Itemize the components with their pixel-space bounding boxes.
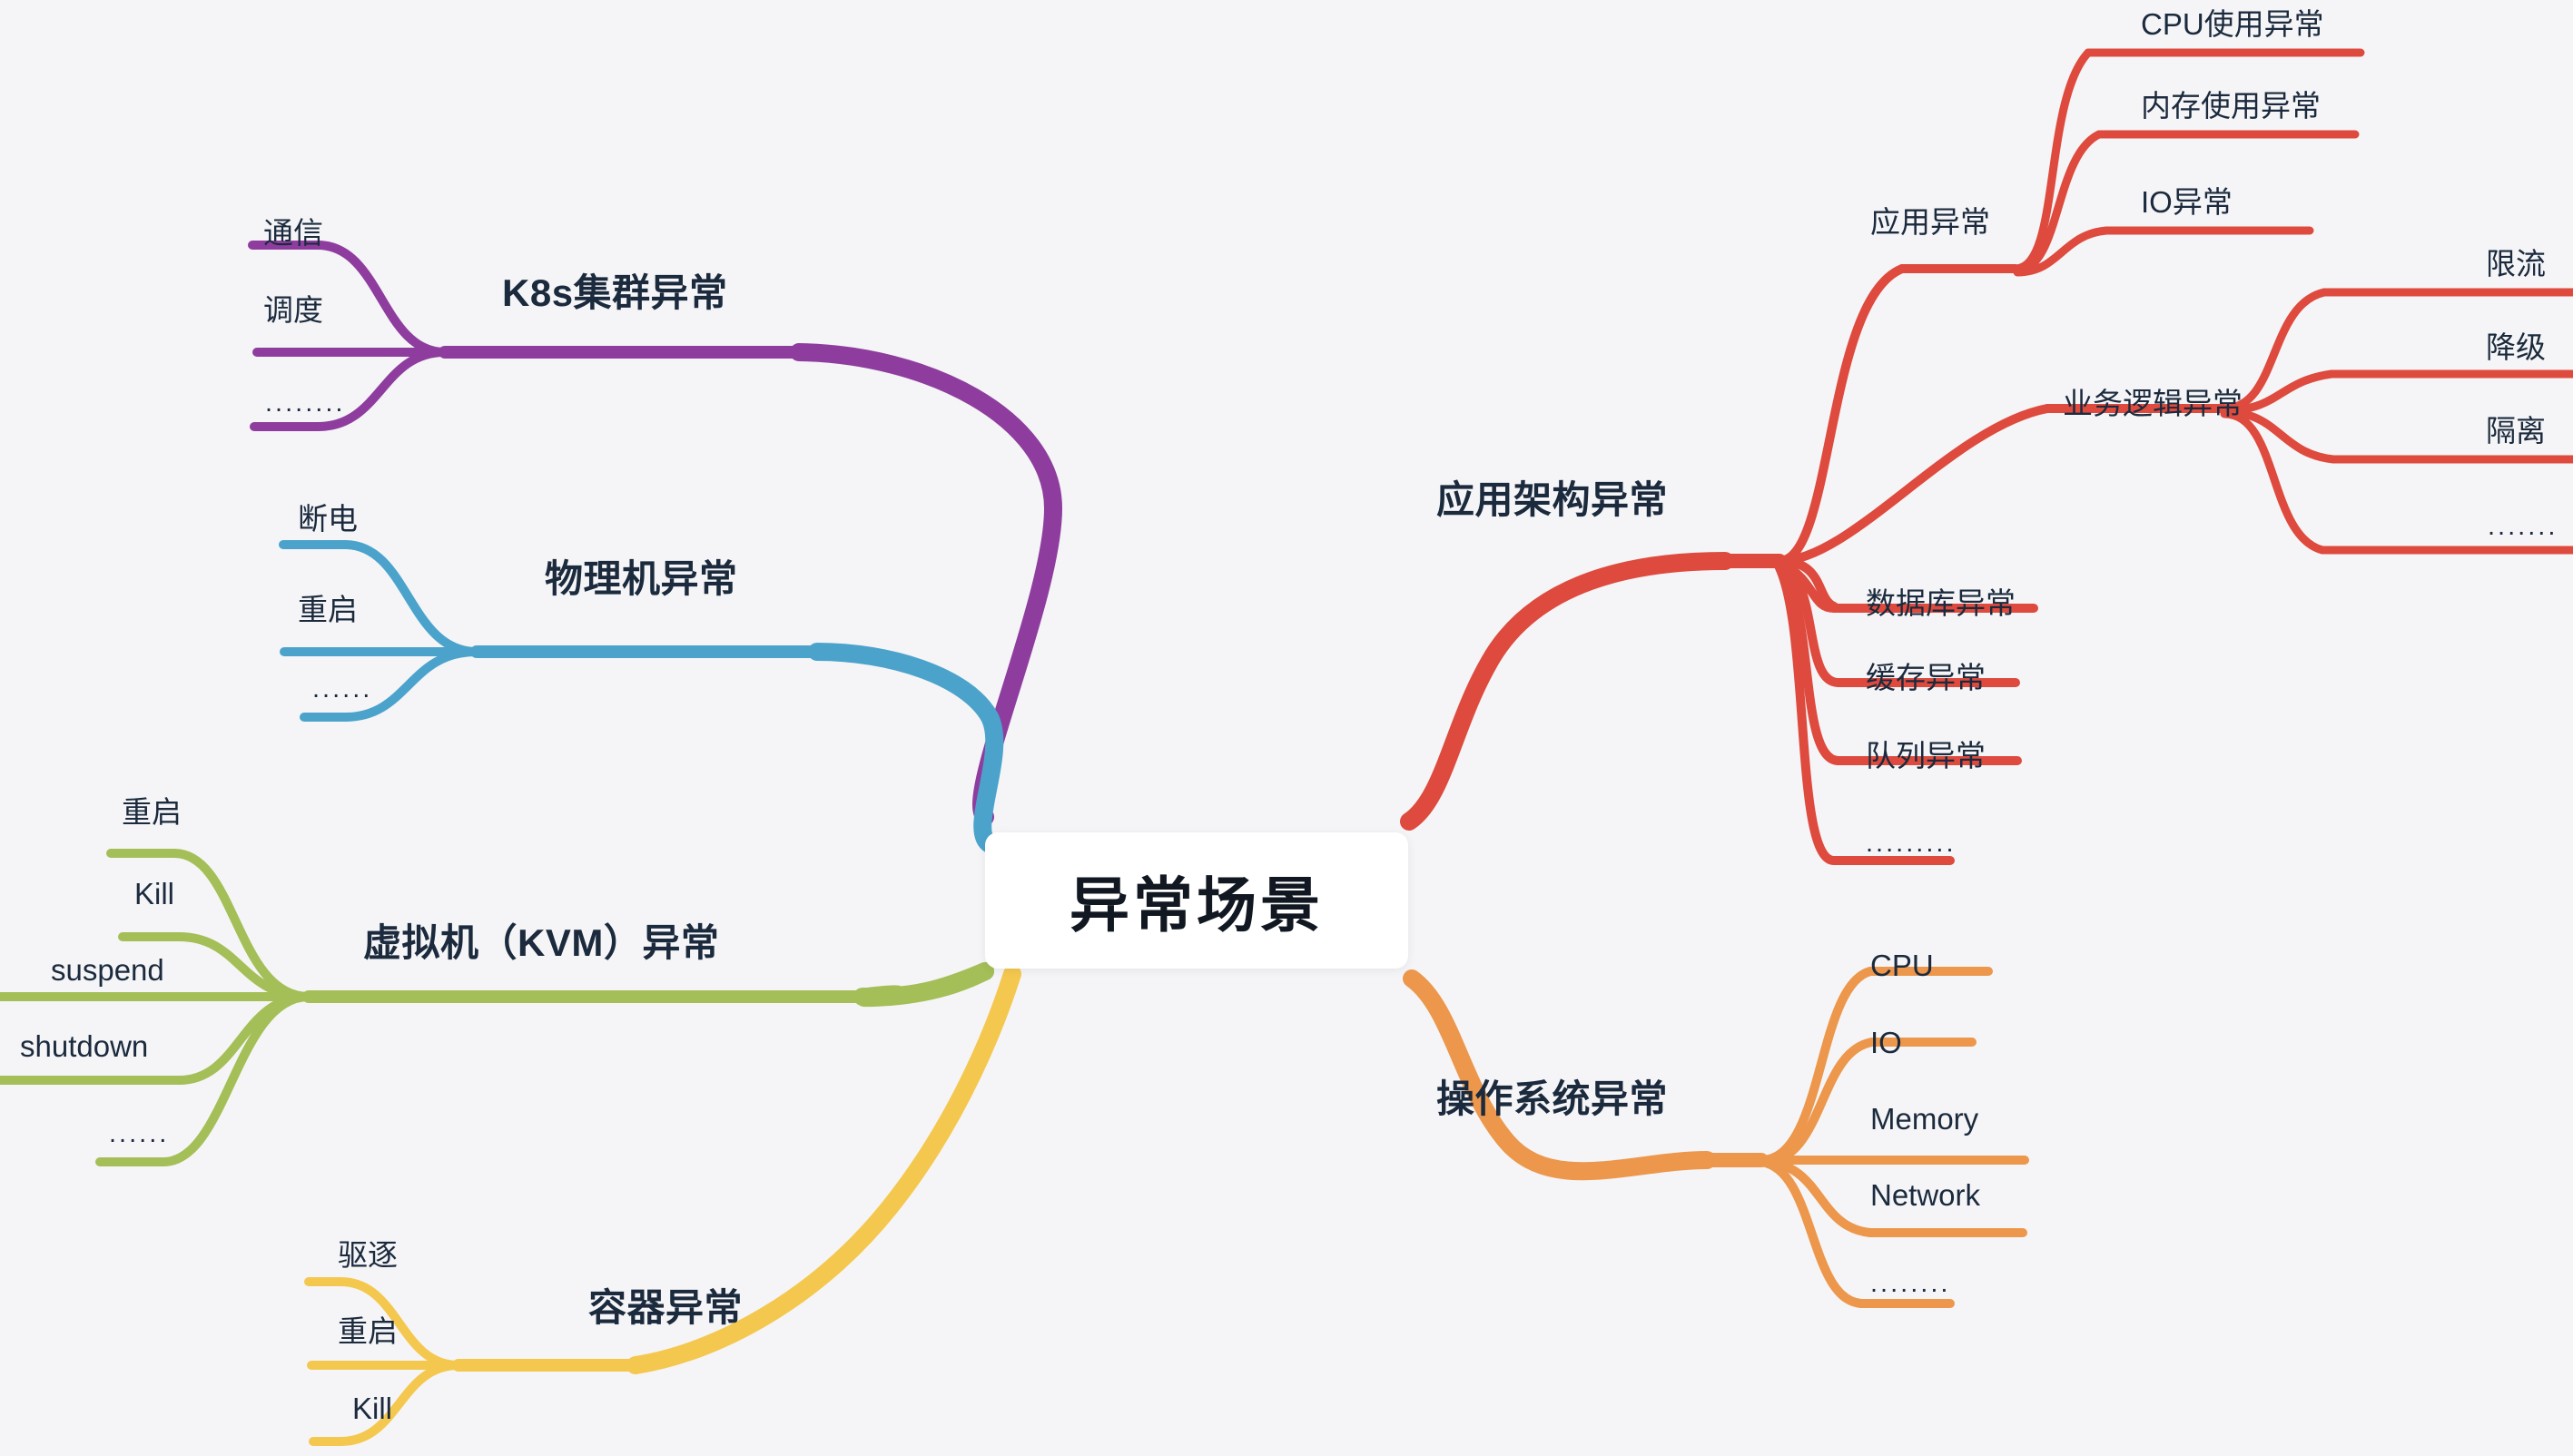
leaf-app-exception-2[interactable]: IO异常 (2141, 187, 2233, 217)
leaf-app-exception-1[interactable]: 内存使用异常 (2141, 91, 2321, 121)
leaf-app-arch-db[interactable]: 数据库异常 (1866, 588, 2016, 618)
leaf-os-4[interactable]: ........ (1870, 1271, 1950, 1297)
branch-label-vm[interactable]: 虚拟机（KVM）异常 (363, 924, 719, 962)
branch-label-physical[interactable]: 物理机异常 (545, 560, 738, 598)
leaf-physical-1[interactable]: 重启 (298, 595, 358, 625)
leaf-vm-1[interactable]: Kill (134, 879, 174, 909)
leaf-container-2[interactable]: Kill (352, 1393, 392, 1423)
leaf-app-arch-queue[interactable]: 队列异常 (1866, 741, 1986, 771)
branch-wire-os (1412, 971, 2025, 1304)
mindmap-canvas: 异常场景 K8s集群异常 通信 调度 ........ 物理机异常 断电 重启 … (0, 0, 2573, 1456)
leaf-k8s-1[interactable]: 调度 (263, 295, 323, 325)
leaf-os-3[interactable]: Network (1870, 1180, 1980, 1210)
node-business-logic[interactable]: 业务逻辑异常 (2063, 389, 2243, 418)
leaf-k8s-0[interactable]: 通信 (263, 218, 323, 248)
leaf-app-exception-0[interactable]: CPU使用异常 (2141, 9, 2324, 39)
leaf-os-2[interactable]: Memory (1870, 1104, 1978, 1134)
branch-label-container[interactable]: 容器异常 (588, 1289, 743, 1327)
leaf-app-arch-more[interactable]: ......... (1866, 831, 1957, 857)
branch-wire-app-arch (1409, 53, 2573, 861)
leaf-business-logic-1[interactable]: 降级 (2486, 332, 2546, 362)
branch-wire-container (309, 974, 1012, 1441)
leaf-vm-3[interactable]: shutdown (20, 1031, 148, 1061)
leaf-vm-4[interactable]: ...... (109, 1121, 169, 1147)
branch-label-k8s[interactable]: K8s集群异常 (502, 274, 728, 312)
leaf-k8s-2[interactable]: ........ (265, 390, 345, 417)
leaf-vm-0[interactable]: 重启 (122, 797, 182, 827)
leaf-os-0[interactable]: CPU (1870, 950, 1934, 980)
leaf-app-arch-cache[interactable]: 缓存异常 (1866, 663, 1986, 693)
leaf-os-1[interactable]: IO (1870, 1028, 1902, 1058)
node-app-exception[interactable]: 应用异常 (1870, 207, 1990, 237)
leaf-business-logic-3[interactable]: ....... (2488, 514, 2558, 540)
leaf-business-logic-2[interactable]: 隔离 (2486, 416, 2546, 446)
leaf-physical-2[interactable]: ...... (312, 676, 372, 703)
leaf-container-0[interactable]: 驱逐 (338, 1240, 398, 1270)
leaf-container-1[interactable]: 重启 (338, 1316, 398, 1346)
branch-label-app-arch[interactable]: 应用架构异常 (1436, 481, 1668, 519)
leaf-business-logic-0[interactable]: 限流 (2486, 249, 2546, 279)
branch-wire-k8s (252, 245, 1053, 817)
root-label: 异常场景 (1070, 857, 1324, 944)
leaf-vm-2[interactable]: suspend (51, 955, 164, 985)
branch-label-os[interactable]: 操作系统异常 (1436, 1080, 1668, 1118)
leaf-physical-0[interactable]: 断电 (298, 504, 358, 534)
root-node[interactable]: 异常场景 (985, 832, 1408, 969)
